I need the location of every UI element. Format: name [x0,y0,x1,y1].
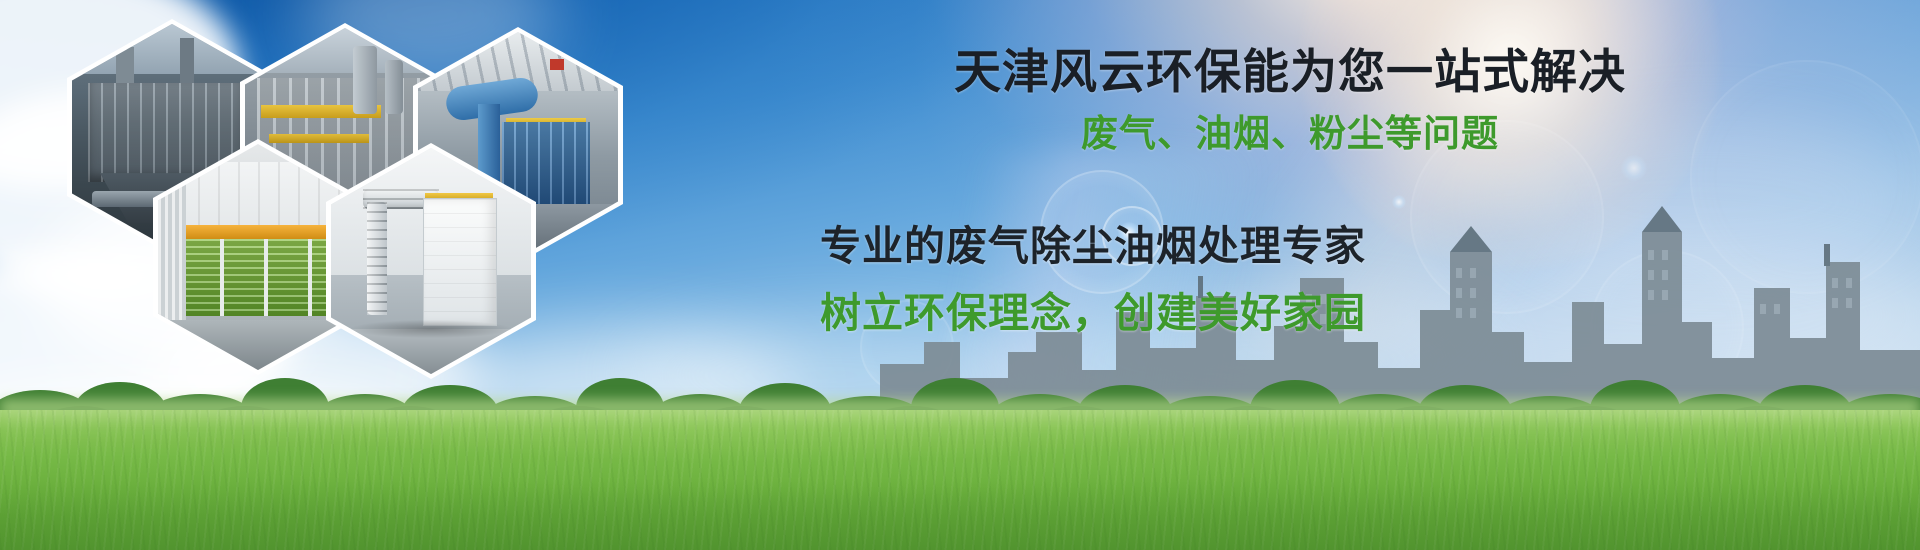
grass-field [0,410,1920,550]
headline-block: 天津风云环保能为您一站式解决 废气、油烟、粉尘等问题 [880,46,1700,157]
headline-secondary: 废气、油烟、粉尘等问题 [880,111,1700,157]
tagline-block: 专业的废气除尘油烟处理专家 树立环保理念，创建美好家园 [820,222,1640,338]
headline-primary: 天津风云环保能为您一站式解决 [880,46,1700,99]
tagline-primary: 专业的废气除尘油烟处理专家 [820,222,1640,271]
hero-banner: 天津风云环保能为您一站式解决 废气、油烟、粉尘等问题 专业的废气除尘油烟处理专家… [0,0,1920,550]
product-photo-collage [72,14,672,404]
tagline-secondary: 树立环保理念，创建美好家园 [820,289,1640,338]
grass-shadow [0,480,1920,550]
